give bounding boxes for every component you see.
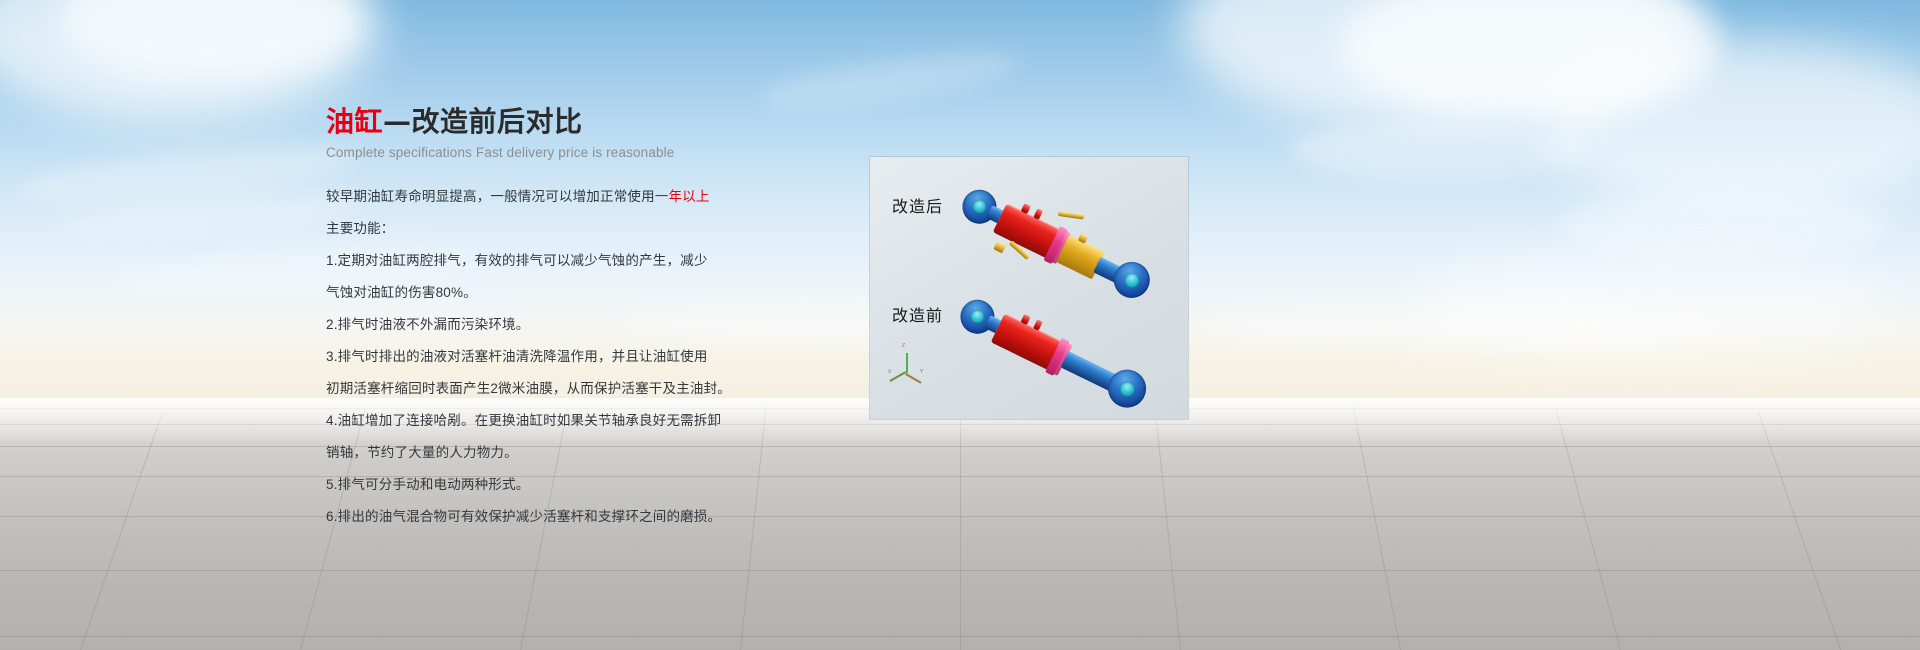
list-item: 2.排气时油液不外漏而污染环境。 bbox=[326, 312, 766, 337]
banner-stage: 油缸—改造前后对比 Complete specifications Fast d… bbox=[0, 0, 1920, 650]
lead-text: 较早期油缸寿命明显提高，一般情况可以增加正常使用 bbox=[326, 189, 655, 204]
axis-label-z: Z bbox=[902, 343, 905, 349]
list-item: 气蚀对油缸的伤害80%。 bbox=[326, 280, 766, 305]
title-highlight: 油缸 bbox=[326, 105, 383, 138]
cloud-shape bbox=[758, 42, 1021, 118]
retrofit-tube bbox=[1058, 211, 1084, 220]
label-before-retrofit: 改造前 bbox=[892, 302, 943, 326]
functions-heading: 主要功能： bbox=[326, 216, 766, 241]
list-item: 6.排出的油气混合物可有效保护减少活塞杆和支撑环之间的磨损。 bbox=[326, 504, 766, 529]
cloud-shape bbox=[1420, 250, 1880, 360]
product-image-panel: 改造后 改造前 bbox=[870, 157, 1188, 419]
list-item: 销轴，节约了大量的人力物力。 bbox=[326, 440, 766, 465]
retrofit-fitting bbox=[993, 241, 1006, 253]
cylinder-port bbox=[1033, 319, 1043, 331]
list-item: 初期活塞杆缩回时表面产生2微米油膜，从而保护活塞干及主油封。 bbox=[326, 376, 766, 401]
list-item: 5.排气可分手动和电动两种形式。 bbox=[326, 472, 766, 497]
list-item: 1.定期对油缸两腔排气，有效的排气可以减少气蚀的产生，减少 bbox=[326, 248, 766, 273]
page-subtitle: Complete specifications Fast delivery pr… bbox=[326, 145, 766, 160]
list-item: 3.排气时排出的油液对活塞杆油清洗降温作用，并且让油缸使用 bbox=[326, 344, 766, 369]
cloud-shape bbox=[1290, 120, 1590, 180]
cloud-shape bbox=[1560, 190, 1890, 260]
axis-label-y: Y bbox=[920, 369, 923, 375]
banner-content: 油缸—改造前后对比 Complete specifications Fast d… bbox=[326, 104, 766, 536]
page-title: 油缸—改造前后对比 bbox=[326, 104, 766, 139]
axis-label-x: X bbox=[888, 369, 891, 375]
cylinder-port bbox=[1033, 208, 1043, 220]
list-item: 4.油缸增加了连接哈剐。在更换油缸时如果关节轴承良好无需拆卸 bbox=[326, 408, 766, 433]
body-text: 较早期油缸寿命明显提高，一般情况可以增加正常使用一年以上 主要功能： 1.定期对… bbox=[326, 184, 766, 529]
coordinate-axis-icon: Z X Y bbox=[892, 345, 936, 379]
cloud-shape bbox=[1540, 40, 1920, 210]
lead-highlight: 一年以上 bbox=[655, 189, 710, 204]
title-rest: —改造前后对比 bbox=[383, 105, 583, 138]
ground-pavement bbox=[0, 398, 1920, 650]
label-after-retrofit: 改造后 bbox=[892, 193, 943, 217]
lead-paragraph: 较早期油缸寿命明显提高，一般情况可以增加正常使用一年以上 bbox=[326, 184, 766, 209]
